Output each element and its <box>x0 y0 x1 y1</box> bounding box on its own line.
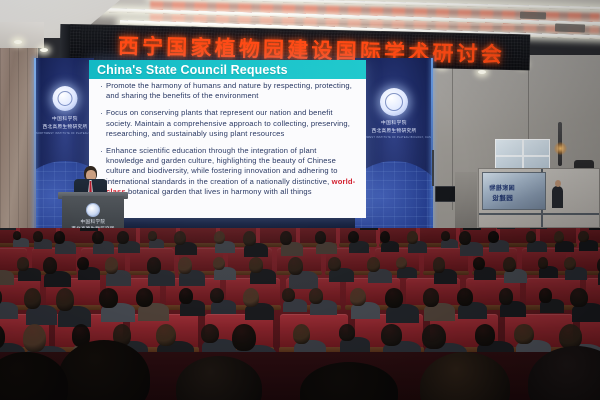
ceiling-vent <box>555 23 585 32</box>
audience-member-head <box>243 288 259 307</box>
audience-member-shoulders <box>589 228 600 230</box>
audience-member-head <box>475 324 495 346</box>
bullet-text-segment: Promote the harmony of humans and nature… <box>106 81 352 100</box>
audience-member-head <box>43 257 57 274</box>
audience-member-head <box>514 324 533 344</box>
audience-member-head <box>350 288 366 306</box>
audience-member-shoulders <box>360 228 378 230</box>
audience-member-head <box>105 257 119 274</box>
audience-member-head <box>77 257 89 270</box>
audience-member-head <box>99 288 118 308</box>
slide-bullet-text: Enhance scientific education through the… <box>106 146 356 197</box>
audience-member-head <box>210 288 223 303</box>
audience-member-head <box>288 257 304 275</box>
booth-operator-head <box>555 180 561 187</box>
audience-member-head <box>136 288 153 307</box>
audience-member-head <box>396 257 407 269</box>
audience-member-head <box>570 288 587 307</box>
audience-member-head <box>23 324 46 352</box>
org-name-english: NORTHWEST INSTITUTE OF PLATEAU BIOLOGY, … <box>36 132 94 135</box>
audience-member-head <box>407 231 417 244</box>
audience-member-head <box>578 231 588 242</box>
audience-member-head <box>201 324 219 343</box>
bullet-marker-icon: · <box>97 81 106 101</box>
org-name-line2: 西北高原生物研究所 <box>36 124 94 130</box>
audience-member-head <box>214 231 225 244</box>
audience-member-shoulders <box>0 302 18 319</box>
audience-member-head <box>422 324 445 349</box>
audience-member-head <box>339 324 355 341</box>
audience-member-head <box>381 324 402 346</box>
audience-member-head <box>147 257 162 274</box>
audience-member-head <box>499 288 513 305</box>
audience-member-head <box>328 257 341 271</box>
audience-member-head <box>309 288 324 304</box>
left-wall-ceiling-corner <box>0 22 44 48</box>
audience-member-head <box>385 288 403 308</box>
bullet-text-segment: Enhance scientific education through the… <box>106 146 338 186</box>
org-name-line1: 中国科学院 <box>36 116 94 122</box>
audience-member-head <box>232 324 255 351</box>
audience-member-head <box>526 231 537 243</box>
booth-operator <box>552 186 563 208</box>
slide-bullet: ·Enhance scientific education through th… <box>97 146 356 197</box>
audience-member-shoulders <box>530 228 547 229</box>
audience-member-shoulders <box>463 228 481 230</box>
slide-bullet: ·Focus on conserving plants that represe… <box>97 108 356 139</box>
audience-member-head <box>179 288 192 304</box>
booth-mullion <box>479 213 599 215</box>
sconce-light-glow <box>554 142 567 155</box>
left-wall-wood-panel <box>0 30 38 245</box>
audience-member-head <box>174 231 186 245</box>
institute-emblem-icon <box>86 203 100 217</box>
audience-member-head <box>156 324 176 346</box>
audience-member-head <box>503 257 515 272</box>
audience-member-head <box>249 257 263 273</box>
backdrop-panel-right: 中国科学院 西北高原生物研究所 NORTHWEST INSTITUTE OF P… <box>355 58 433 243</box>
audience-member-head <box>538 257 549 269</box>
audience-member-head <box>148 231 156 241</box>
audience-member-head <box>348 231 359 243</box>
audience-member-head <box>488 231 499 243</box>
booth-sign-line1: 国家植物 <box>489 183 515 192</box>
audience-member-head <box>433 257 446 273</box>
side-door <box>455 172 477 228</box>
institute-emblem-icon <box>380 88 408 116</box>
backdrop-light-seam <box>34 58 36 243</box>
audience-member-head <box>315 231 327 244</box>
conference-hall-photo: 西宁国家植物园建设国际学术研讨会 中国科学院 西北高原生物研究所 NORTHWE… <box>0 0 600 400</box>
audience-member-head <box>564 257 576 270</box>
org-name-line1: 中国科学院 <box>355 120 433 126</box>
institute-emblem-icon <box>53 86 78 111</box>
org-name-english: NORTHWEST INSTITUTE OF PLATEAU BIOLOGY, … <box>355 136 433 139</box>
booth-glass-panel: 国家植物 园建设 <box>482 172 546 210</box>
podium-org-line1: 中国科学院 <box>62 219 124 225</box>
downlight <box>478 70 486 74</box>
slide-bullet-text: Promote the harmony of humans and nature… <box>106 81 356 101</box>
audience-member-head <box>178 257 192 274</box>
audience-member-head <box>423 288 440 307</box>
audience-member-shoulders <box>0 270 14 286</box>
audience-member-head <box>17 257 30 271</box>
audience-member-head <box>293 324 310 344</box>
audience-member-head <box>367 257 380 272</box>
audience-member-head <box>280 231 292 245</box>
audience-member-head <box>539 288 552 303</box>
audience-member-head <box>473 257 485 270</box>
mic-stand <box>432 150 434 186</box>
window-mullion <box>496 155 549 157</box>
audience-member-head <box>33 231 43 242</box>
slide-bullet: ·Promote the harmony of humans and natur… <box>97 81 356 101</box>
booth-sign-line2: 园建设 <box>492 192 513 202</box>
audience-member-head <box>24 288 41 309</box>
audience-member-head <box>457 288 473 306</box>
bullet-text-segment: botanical garden that lives in harmony w… <box>126 187 312 196</box>
interior-window <box>495 139 550 171</box>
slide-title: China's State Council Requests <box>97 63 288 77</box>
bullet-text-segment: Focus on conserving plants that represen… <box>106 108 350 137</box>
audience-member-head <box>117 231 129 244</box>
downlight <box>40 48 48 52</box>
slide-bullet-text: Focus on conserving plants that represen… <box>106 108 356 139</box>
bullet-marker-icon: · <box>97 108 106 139</box>
audience-member-head <box>282 288 295 302</box>
audience-member-head <box>56 288 74 311</box>
confidence-monitor <box>435 186 457 202</box>
audience-member-head <box>213 257 225 270</box>
audience-member-shoulders <box>0 228 16 230</box>
ceiling-vent <box>520 12 546 20</box>
audience-member-head <box>92 231 103 244</box>
audience-member-head <box>441 231 450 241</box>
audience-member-head <box>243 231 255 246</box>
audience-member-head <box>380 231 390 243</box>
downlight <box>14 40 22 44</box>
presentation-slide: China's State Council Requests ·Promote … <box>89 60 366 218</box>
org-name-line2: 西北高原生物研究所 <box>355 128 433 134</box>
audience-member-head <box>54 231 66 244</box>
audience-member-shoulders <box>497 228 515 229</box>
audience-member-head <box>459 231 471 245</box>
slide-bullet-list: ·Promote the harmony of humans and natur… <box>89 81 366 204</box>
